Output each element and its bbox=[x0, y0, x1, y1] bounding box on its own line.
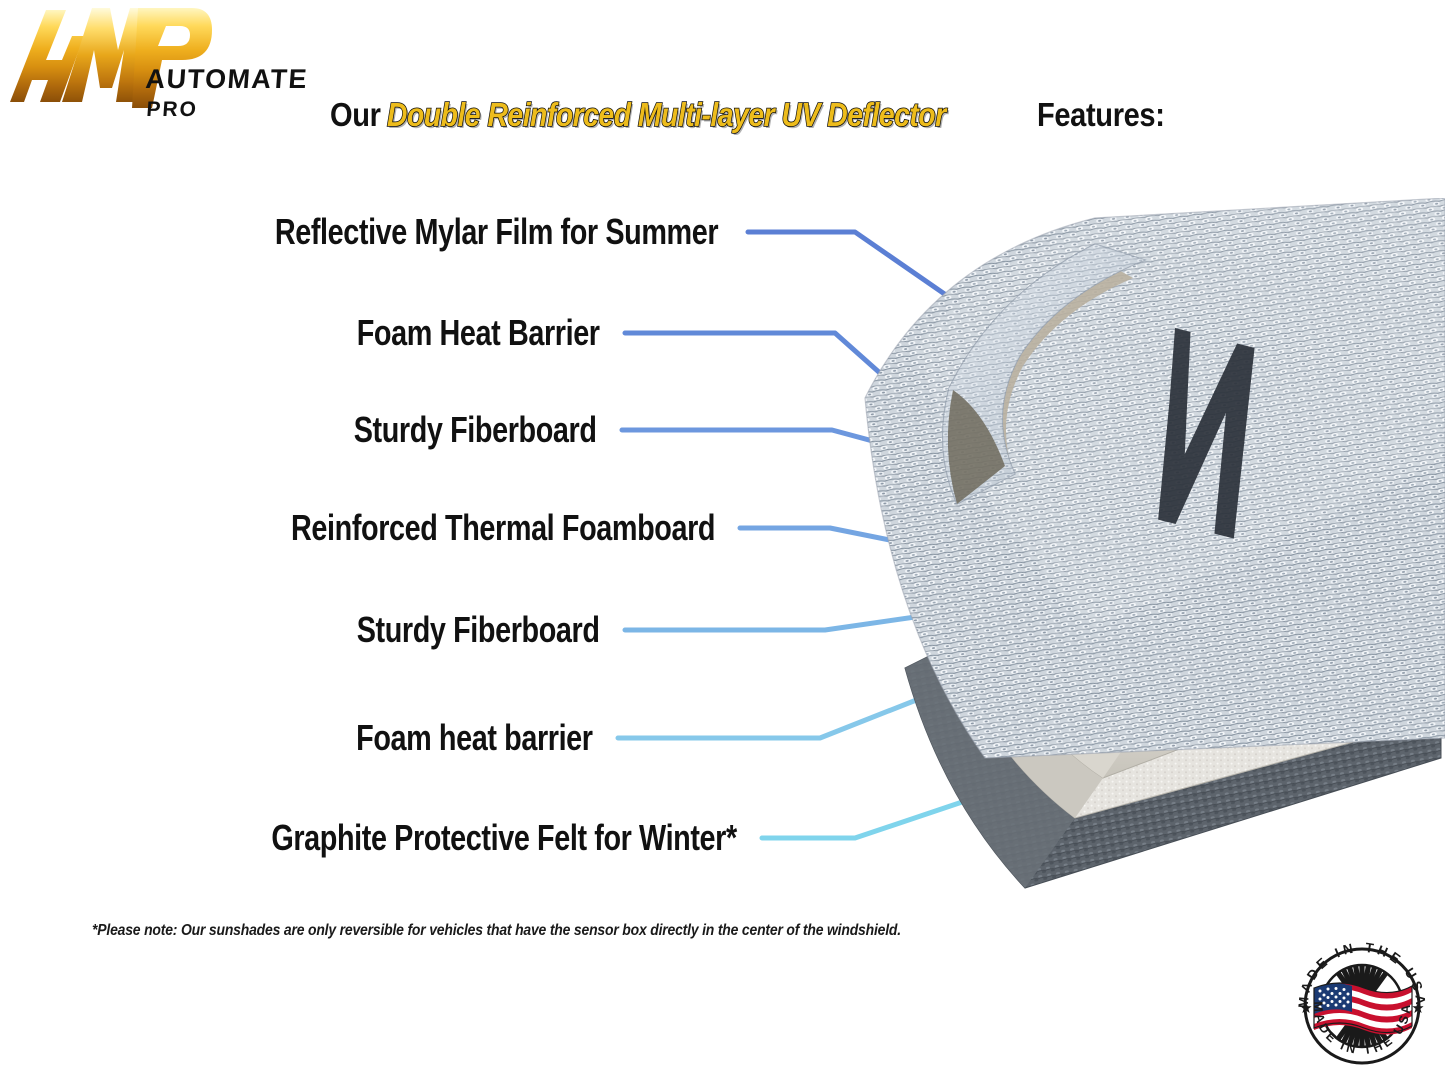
made-in-usa-badge: MADE IN THE USA MADE IN THE USA bbox=[1288, 940, 1436, 1068]
headline-emphasis: Double Reinforced Multi-layer UV Deflect… bbox=[387, 96, 946, 134]
layer-label-6: Foam heat barrier bbox=[357, 717, 593, 759]
headline-suffix: Features: bbox=[1037, 96, 1165, 134]
footnote-text: *Please note: Our sunshades are only rev… bbox=[92, 922, 901, 940]
product-cutaway-photo bbox=[845, 198, 1445, 898]
page-title: Our Double Reinforced Multi-layer UV Def… bbox=[330, 96, 1120, 142]
layer-label-5: Sturdy Fiberboard bbox=[357, 609, 600, 651]
logo-sub-automate: AUTOMATE bbox=[145, 64, 309, 94]
brand-logo: AUTOMATE PRO bbox=[6, 2, 326, 122]
layer-label-2: Foam Heat Barrier bbox=[357, 312, 600, 354]
infographic-canvas: AUTOMATE PRO Our Double Reinforced Multi… bbox=[0, 0, 1445, 1077]
layer-label-7: Graphite Protective Felt for Winter* bbox=[272, 817, 737, 859]
logo-sub-pro: PRO bbox=[146, 98, 199, 121]
layer-label-4: Reinforced Thermal Foamboard bbox=[291, 507, 715, 549]
headline-prefix: Our bbox=[330, 96, 381, 134]
layer-label-3: Sturdy Fiberboard bbox=[354, 409, 597, 451]
layer-label-1: Reflective Mylar Film for Summer bbox=[275, 211, 718, 253]
